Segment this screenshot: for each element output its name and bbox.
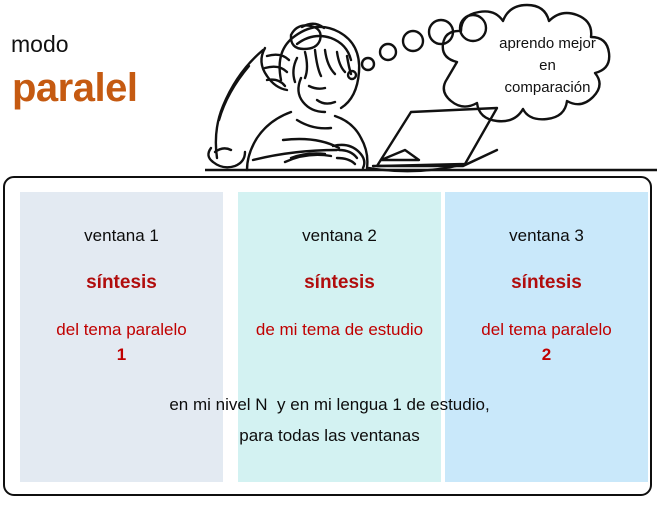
thought-dot-2 (362, 58, 374, 70)
panel-footer-line-1: en mi nivel N y en mi lengua 1 de estudi… (20, 390, 639, 421)
thought-bubble-line-3: comparación (465, 77, 630, 99)
window-column-1-desc-line-2: 1 (20, 343, 223, 368)
window-column-2-sintesis: síntesis (238, 272, 441, 294)
panel-footer-note: en mi nivel N y en mi lengua 1 de estudi… (20, 390, 639, 451)
window-column-3-description: del tema paralelo 2 (445, 318, 648, 367)
window-column-3-sintesis: síntesis (445, 272, 648, 294)
window-column-3-desc-line-1: del tema paralelo (481, 320, 611, 339)
page-title-modo: modo (11, 33, 69, 56)
thought-bubble-line-2: en (465, 55, 630, 77)
page-title-paralel: paralel (12, 68, 137, 108)
window-column-1-head: ventana 1 (20, 226, 223, 246)
window-column-2-description: de mi tema de estudio (238, 318, 441, 343)
panel-footer-line-2: para todas las ventanas (20, 421, 639, 452)
window-column-1-description: del tema paralelo 1 (20, 318, 223, 367)
thought-dot-3 (380, 44, 396, 60)
window-column-3-head: ventana 3 (445, 226, 648, 246)
header-area: modo paralel (0, 0, 657, 176)
window-column-1-desc-line-1: del tema paralelo (56, 320, 186, 339)
window-column-2-head: ventana 2 (238, 226, 441, 246)
thought-dot-4 (403, 31, 423, 51)
windows-panel: ventana 1 síntesis del tema paralelo 1 v… (3, 176, 652, 496)
window-column-2-desc-line-1: de mi tema (256, 320, 340, 339)
window-column-1-sintesis: síntesis (20, 272, 223, 294)
thought-bubble-line-1: aprendo mejor (465, 33, 630, 55)
window-column-2-desc-line-2: de estudio (345, 320, 423, 339)
thought-dot-1 (348, 71, 356, 79)
window-column-3-desc-line-2: 2 (445, 343, 648, 368)
thought-bubble-text: aprendo mejor en comparación (465, 33, 630, 98)
